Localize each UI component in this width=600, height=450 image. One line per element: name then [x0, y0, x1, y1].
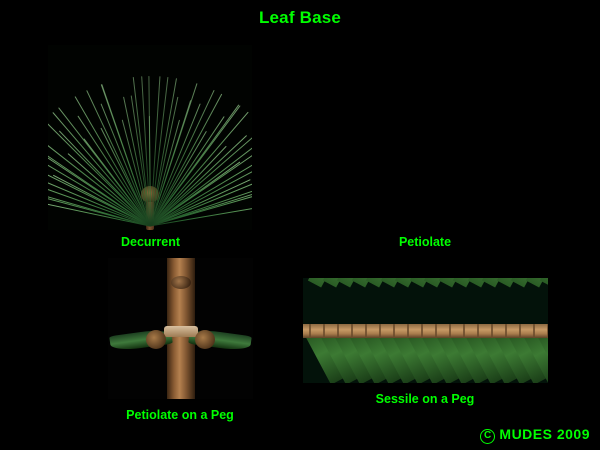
- twig-node-ring: [164, 326, 198, 337]
- page-title: Leaf Base: [0, 8, 600, 28]
- rachis-segment: [547, 324, 548, 338]
- rachis-segment: [337, 324, 339, 338]
- copyright-icon: C: [480, 429, 495, 444]
- rachis-segment: [505, 324, 507, 338]
- twig-bud: [171, 276, 191, 289]
- caption-decurrent: Decurrent: [78, 235, 223, 249]
- caption-petiolate: Petiolate: [355, 235, 495, 249]
- caption-petiolate-on-a-peg: Petiolate on a Peg: [100, 408, 260, 422]
- rachis-segment: [379, 324, 381, 338]
- rachis-segment: [393, 324, 395, 338]
- rachis-segment: [463, 324, 465, 338]
- rachis-segment: [309, 324, 311, 338]
- figure-sessile-on-peg-image: [303, 278, 548, 383]
- rachis-segment: [421, 324, 423, 338]
- copyright-text: MUDES 2009: [499, 426, 590, 442]
- rachis-segment: [519, 324, 521, 338]
- rachis-segment: [449, 324, 451, 338]
- rachis-segment: [491, 324, 493, 338]
- rachis-segment: [365, 324, 367, 338]
- rachis-segment: [435, 324, 437, 338]
- rachis-segment: [533, 324, 535, 338]
- peg-knob-left: [146, 330, 166, 349]
- caption-sessile-on-a-peg: Sessile on a Peg: [345, 392, 505, 406]
- peg-knob-right: [195, 330, 215, 349]
- rachis-segment: [407, 324, 409, 338]
- figure-decurrent-image: [48, 45, 252, 230]
- rachis-segment: [323, 324, 325, 338]
- rachis-segment: [351, 324, 353, 338]
- copyright-notice: CMUDES 2009: [480, 426, 590, 444]
- slide-canvas: Leaf Base Decurrent Petiolate Petiolate …: [0, 0, 600, 450]
- rachis-stem: [303, 324, 548, 338]
- figure-petiolate-on-peg-image: [108, 258, 253, 399]
- rachis-segment: [477, 324, 479, 338]
